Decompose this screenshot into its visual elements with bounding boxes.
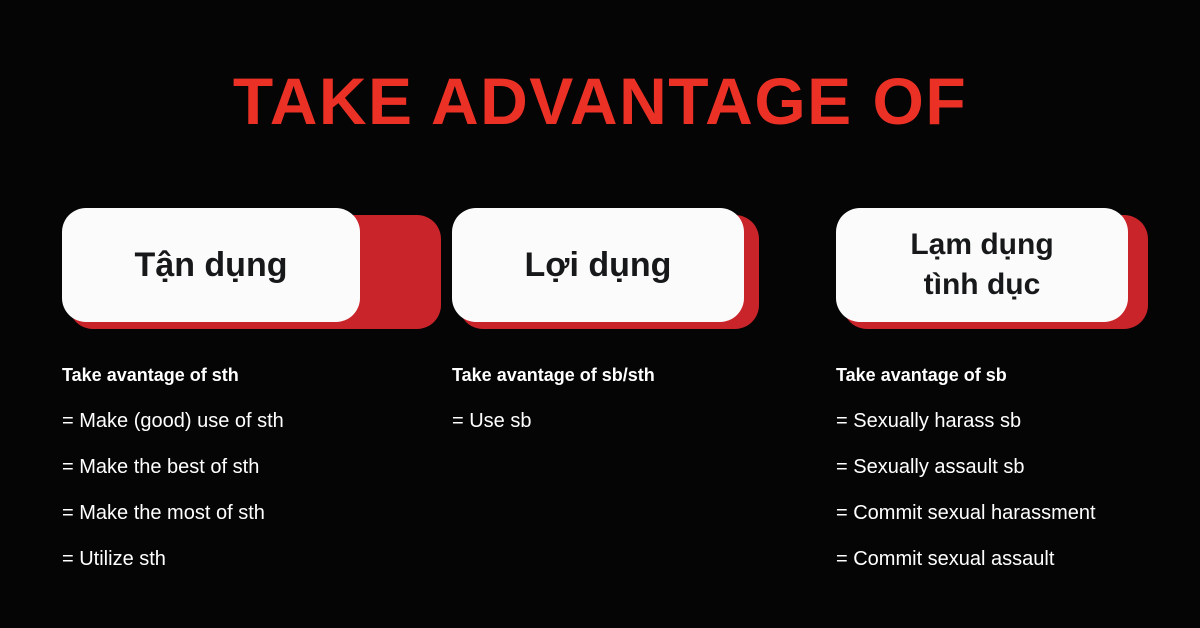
columns-container: Tận dụng Take avantage of sth = Make (go…: [0, 0, 1200, 628]
list-item: Take avantage of sth: [62, 352, 434, 398]
card-2[interactable]: Lợi dụng: [452, 208, 744, 322]
column-2: Lợi dụng Take avantage of sb/sth = Use s…: [452, 208, 752, 460]
list-item: = Make the best of sth: [62, 444, 434, 490]
card-label-1: Tận dụng: [135, 244, 288, 286]
card-wrap-2: Lợi dụng: [452, 208, 752, 322]
phrase-list-3: Take avantage of sb = Sexually harass sb…: [836, 352, 1141, 582]
list-item: = Use sb: [452, 398, 752, 444]
list-item: = Utilize sth: [62, 536, 434, 582]
card-wrap-3: Lạm dụng tình dục: [836, 208, 1141, 322]
card-label-2: Lợi dụng: [525, 244, 672, 286]
card-wrap-1: Tận dụng: [62, 208, 434, 322]
list-item: = Sexually harass sb: [836, 398, 1141, 444]
list-item: = Make the most of sth: [62, 490, 434, 536]
phrase-list-2: Take avantage of sb/sth = Use sb: [452, 352, 752, 444]
card-label-3: Lạm dụng tình dục: [910, 225, 1053, 305]
column-1: Tận dụng Take avantage of sth = Make (go…: [62, 208, 434, 598]
list-item: = Commit sexual harassment: [836, 490, 1141, 536]
list-item: Take avantage of sb/sth: [452, 352, 752, 398]
list-item: Take avantage of sb: [836, 352, 1141, 398]
list-item: = Sexually assault sb: [836, 444, 1141, 490]
phrase-list-1: Take avantage of sth = Make (good) use o…: [62, 352, 434, 582]
list-item: = Commit sexual assault: [836, 536, 1141, 582]
slide-canvas: TAKE ADVANTAGE OF Tận dụng Take avantage…: [0, 0, 1200, 628]
card-3[interactable]: Lạm dụng tình dục: [836, 208, 1128, 322]
column-3: Lạm dụng tình dục Take avantage of sb = …: [836, 208, 1141, 598]
card-1[interactable]: Tận dụng: [62, 208, 360, 322]
list-item: = Make (good) use of sth: [62, 398, 434, 444]
